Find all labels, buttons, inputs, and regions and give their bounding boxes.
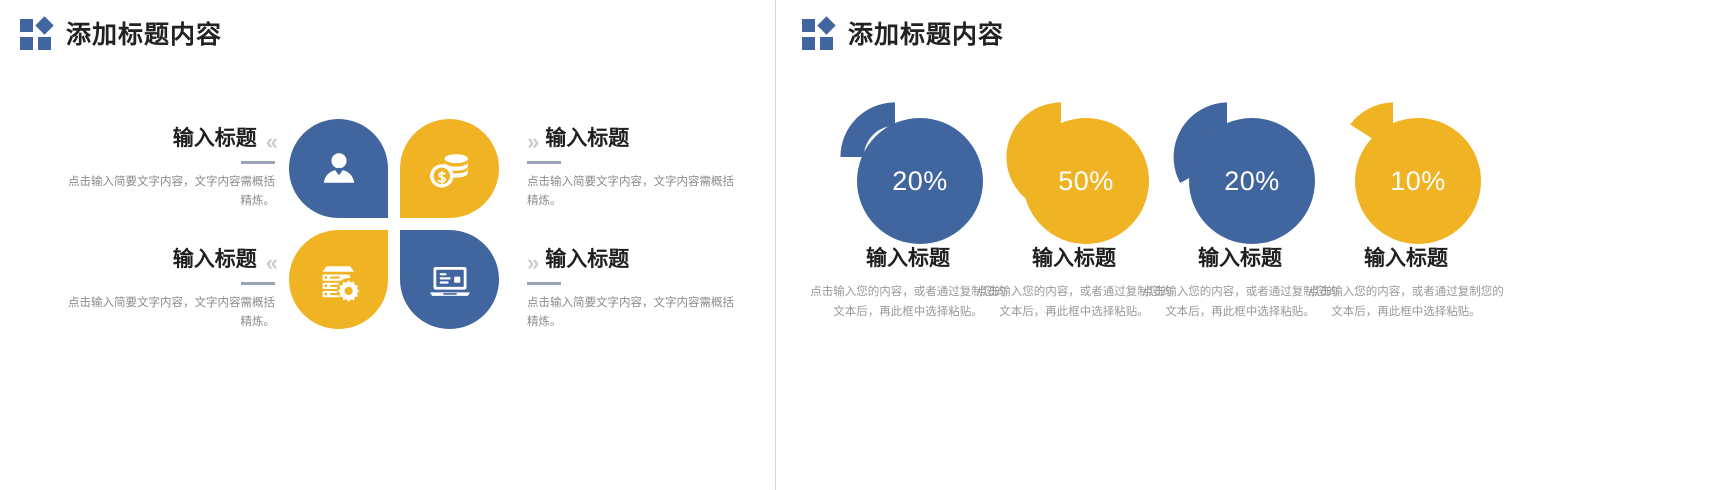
percentage-chart-row: 20% 50% [776,92,1720,272]
feature-title: 输入标题 [173,249,257,271]
caption-title: 输入标题 [1306,248,1506,269]
petal-top-left[interactable] [289,119,388,218]
header-left: 添加标题内容 [20,19,222,51]
slide-right: 添加标题内容 20% 5 [776,0,1720,490]
percentage-value: 20% [1224,168,1280,195]
title-underline [241,161,275,164]
percentage-disc-4: 10% [1355,118,1481,244]
page-title: 添加标题内容 [848,23,1004,48]
feature-body: 点击输入简要文字内容，文字内容需概括精炼。 [60,173,275,210]
title-underline [527,161,561,164]
chevron-right-icon: » [527,131,536,153]
feature-body: 点击输入简要文字内容，文字内容需概括精炼。 [60,294,275,331]
caption-item-4: 输入标题 点击输入您的内容，或者通过复制您的文本后，再此框中选择粘贴。 [1306,248,1506,323]
feature-block-2: » 输入标题 点击输入简要文字内容，文字内容需概括精炼。 [527,128,742,210]
percentage-item-3[interactable]: 20% [1152,92,1327,272]
feature-title: 输入标题 [545,128,629,150]
four-square-logo-icon [802,19,834,51]
feature-title: 输入标题 [545,249,629,271]
chevron-right-icon: » [527,252,536,274]
feature-body: 点击输入简要文字内容，文字内容需概括精炼。 [527,294,742,331]
server-gear-icon [317,258,361,302]
title-underline [527,282,561,285]
percentage-item-2[interactable]: 50% [986,92,1161,272]
laptop-icon [428,258,472,302]
feature-block-3: 输入标题 « 点击输入简要文字内容，文字内容需概括精炼。 [60,249,275,331]
caption-body: 点击输入您的内容，或者通过复制您的文本后，再此框中选择粘贴。 [1306,282,1506,323]
coins-dollar-icon [428,147,472,191]
percentage-item-4[interactable]: 10% [1318,92,1493,272]
four-petal-diagram [289,119,499,329]
percentage-item-1[interactable]: 20% [820,92,995,272]
feature-title: 输入标题 [173,128,257,150]
page-title: 添加标题内容 [66,23,222,48]
petal-top-right[interactable] [400,119,499,218]
title-underline [241,282,275,285]
feature-body: 点击输入简要文字内容，文字内容需概括精炼。 [527,173,742,210]
percentage-value: 10% [1390,168,1446,195]
percentage-disc-3: 20% [1189,118,1315,244]
percentage-value: 20% [892,168,948,195]
feature-block-1: 输入标题 « 点击输入简要文字内容，文字内容需概括精炼。 [60,128,275,210]
user-icon [317,147,361,191]
chevron-left-icon: « [266,131,275,153]
petal-bottom-right[interactable] [400,230,499,329]
header-right: 添加标题内容 [802,19,1004,51]
percentage-value: 50% [1058,168,1114,195]
chevron-left-icon: « [266,252,275,274]
petal-bottom-left[interactable] [289,230,388,329]
percentage-disc-2: 50% [1023,118,1149,244]
slide-canvas: 添加标题内容 [0,0,1720,490]
feature-block-4: » 输入标题 点击输入简要文字内容，文字内容需概括精炼。 [527,249,742,331]
percentage-disc-1: 20% [857,118,983,244]
slide-left: 添加标题内容 [0,0,775,490]
four-square-logo-icon [20,19,52,51]
